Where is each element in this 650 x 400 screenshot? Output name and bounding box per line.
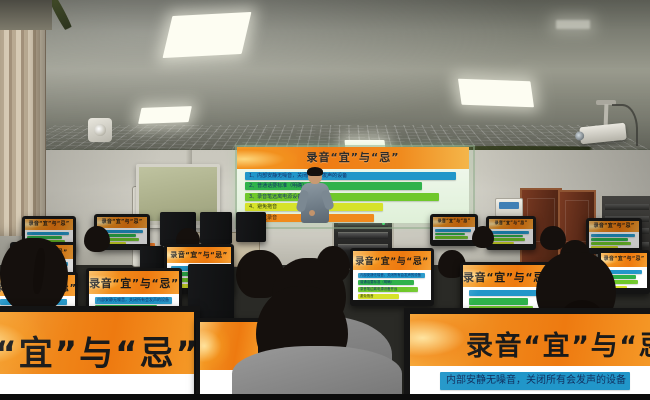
ceiling-light-3 xyxy=(458,79,534,107)
bullet-item xyxy=(435,233,465,236)
bullet-item: 普通话要标准（明确） xyxy=(358,280,414,285)
monitor-back[interactable] xyxy=(200,212,232,244)
slide-title: 录音“宜”与“忌” xyxy=(25,220,73,227)
bullet-item xyxy=(491,235,523,238)
ceiling-light-2 xyxy=(138,106,192,124)
slide-banner: 录音“宜”与“忌” xyxy=(489,219,533,229)
slide: 录音“宜”与“忌” xyxy=(0,312,194,400)
slide: 录音“宜”与“忌” xyxy=(589,221,639,248)
bullet-item xyxy=(591,234,635,237)
bullet-item: 内部安静无噪音，关闭所有会发声的设备 xyxy=(440,372,630,390)
slide-title: 录音“宜”与“忌” xyxy=(601,255,647,262)
student-head xyxy=(84,226,110,252)
slide-banner: 录音“宜”与“忌” xyxy=(89,271,179,294)
monitor-screen: 录音“宜”与“忌” xyxy=(589,221,639,248)
bullet-list xyxy=(489,231,533,244)
slide-banner: 录音“宜”与“忌” xyxy=(0,312,194,374)
bullet-item xyxy=(491,231,529,234)
slide-banner: 录音“宜”与“忌” xyxy=(601,253,647,267)
bullet-item xyxy=(469,298,528,304)
projected-bullet-list: 1、内部安静无噪音，关闭所有会发声的设备 2、普通话要标准（明确） 3、录音笔远… xyxy=(245,172,461,223)
monitor-screen: 录音“宜”与“忌” 内部安静无噪音，关闭所有会发声的设备 xyxy=(410,314,650,400)
bullet-item: 内部安静无噪音，关闭所有会发声的设备 xyxy=(95,297,172,304)
monitor-screen: 录音“宜”与“忌” xyxy=(489,219,533,244)
student-shoulders-foreground xyxy=(232,346,402,400)
slide-swirl-graphic xyxy=(200,322,230,370)
projected-slide-banner: 录音“宜”与“忌” xyxy=(237,147,469,169)
bullet-item: 内部安静无噪音，关闭所有会发声的设备 xyxy=(358,273,425,278)
glasses-icon xyxy=(309,174,321,178)
monitor[interactable]: 录音“宜”与“忌” xyxy=(486,216,536,250)
slide-banner: 录音“宜”与“忌” xyxy=(433,217,475,227)
slide-title: 录音“宜”与“忌” xyxy=(433,218,475,224)
slide: 录音“宜”与“忌” 内部安静无噪音，关闭所有会发声的设备 xyxy=(410,314,650,400)
slide-banner: 录音“宜”与“忌” xyxy=(97,217,147,228)
instructor xyxy=(300,168,330,222)
slide-banner: 录音“宜”与“忌” xyxy=(25,219,73,230)
monitor-screen: 录音“宜”与“忌” 内部安静无噪音，关闭所有会发声的设备 普通话要标准（明确） … xyxy=(353,251,431,300)
slide: 录音“宜”与“忌” xyxy=(489,219,533,244)
monitor-foreground-left[interactable]: 录音“宜”与“忌” xyxy=(0,306,200,400)
slide: 录音“宜”与“忌” 内部安静无噪音，关闭所有会发声的设备 普通话要标准（明确） … xyxy=(353,251,431,300)
speaker-cone-icon xyxy=(94,124,106,136)
bullet-item: 避免拖音 xyxy=(358,294,399,299)
curtain-rail xyxy=(0,0,52,30)
desk-edge xyxy=(0,394,650,400)
ceiling-light-1 xyxy=(163,12,252,58)
slide-title: 录音“宜”与“忌” xyxy=(353,254,431,267)
ceiling-light-6 xyxy=(556,20,590,29)
slide-banner: 录音“宜”与“忌” xyxy=(410,314,650,366)
instructor-hand xyxy=(309,210,315,216)
bullet-item xyxy=(491,238,525,241)
bullet-item: 录音笔边离电源设备开远 xyxy=(358,287,418,292)
slide-title: 录音“宜”与“忌” xyxy=(489,220,533,226)
bullet-item xyxy=(469,290,540,296)
bullet-list: 内部安静无噪音，关闭所有会发声的设备 普通话要标准（明确） 录音笔边离电源设备开… xyxy=(353,273,431,300)
slide-banner: 录音“宜”与“忌” xyxy=(589,221,639,232)
window-curtain xyxy=(0,0,46,236)
slide-title: 录音“宜”与“忌” xyxy=(0,326,194,375)
bullet-list xyxy=(589,234,639,248)
bullet-item xyxy=(591,238,628,241)
bullet-item xyxy=(491,242,514,244)
slide-banner: 录音“宜”与“忌” xyxy=(353,251,431,270)
wall-speaker-left xyxy=(88,118,112,142)
monitor[interactable]: 录音“宜”与“忌” xyxy=(586,218,642,254)
projected-bullet: 1、内部安静无噪音，关闭所有会发声的设备 xyxy=(245,172,456,180)
classroom-photo: 录音“宜”与“忌” 1、内部安静无噪音，关闭所有会发声的设备 2、普通话要标准（… xyxy=(0,0,650,400)
student-head xyxy=(472,226,494,248)
slide-title: 录音“宜”与“忌” xyxy=(466,324,648,363)
projected-bullet: 2、普通话要标准（明确） xyxy=(245,182,422,190)
slide-title: 录音“宜”与“忌” xyxy=(167,250,231,260)
slide: 录音“宜”与“忌” xyxy=(433,217,475,240)
bullet-list xyxy=(433,229,475,240)
slide-title: 录音“宜”与“忌” xyxy=(97,218,147,225)
monitor[interactable]: 录音“宜”与“忌” 内部安静无噪音，关闭所有会发声的设备 普通话要标准（明确） … xyxy=(350,248,434,306)
projected-bullet: 3、录音笔远离电源设备开关 xyxy=(245,193,439,201)
bullet-item xyxy=(435,229,471,232)
projected-slide-title: 录音“宜”与“忌” xyxy=(307,149,400,165)
slide-title: 录音“宜”与“忌” xyxy=(89,275,179,291)
bullet-item xyxy=(591,242,631,245)
bullet-item xyxy=(435,236,468,239)
bullet-item xyxy=(27,232,69,235)
monitor[interactable]: 录音“宜”与“忌” xyxy=(430,214,478,246)
bullet-item xyxy=(591,246,618,248)
slide-swirl-graphic xyxy=(237,147,297,169)
monitor-back[interactable] xyxy=(236,212,266,242)
projection-screen: 录音“宜”与“忌” 1、内部安静无噪音，关闭所有会发声的设备 2、普通话要标准（… xyxy=(237,147,469,223)
control-panel-screen xyxy=(499,202,519,209)
slide-title: 录音“宜”与“忌” xyxy=(589,222,639,229)
slide-banner: 录音“宜”与“忌” xyxy=(167,247,231,263)
monitor-screen: 录音“宜”与“忌” xyxy=(433,217,475,240)
wall-control-panel[interactable] xyxy=(495,198,523,217)
monitor-foreground-right[interactable]: 录音“宜”与“忌” 内部安静无噪音，关闭所有会发声的设备 xyxy=(404,308,650,400)
rack-unit xyxy=(605,204,649,210)
projector-lens xyxy=(575,131,585,141)
rack-unit xyxy=(338,232,388,239)
monitor-screen: 录音“宜”与“忌” xyxy=(0,312,194,400)
